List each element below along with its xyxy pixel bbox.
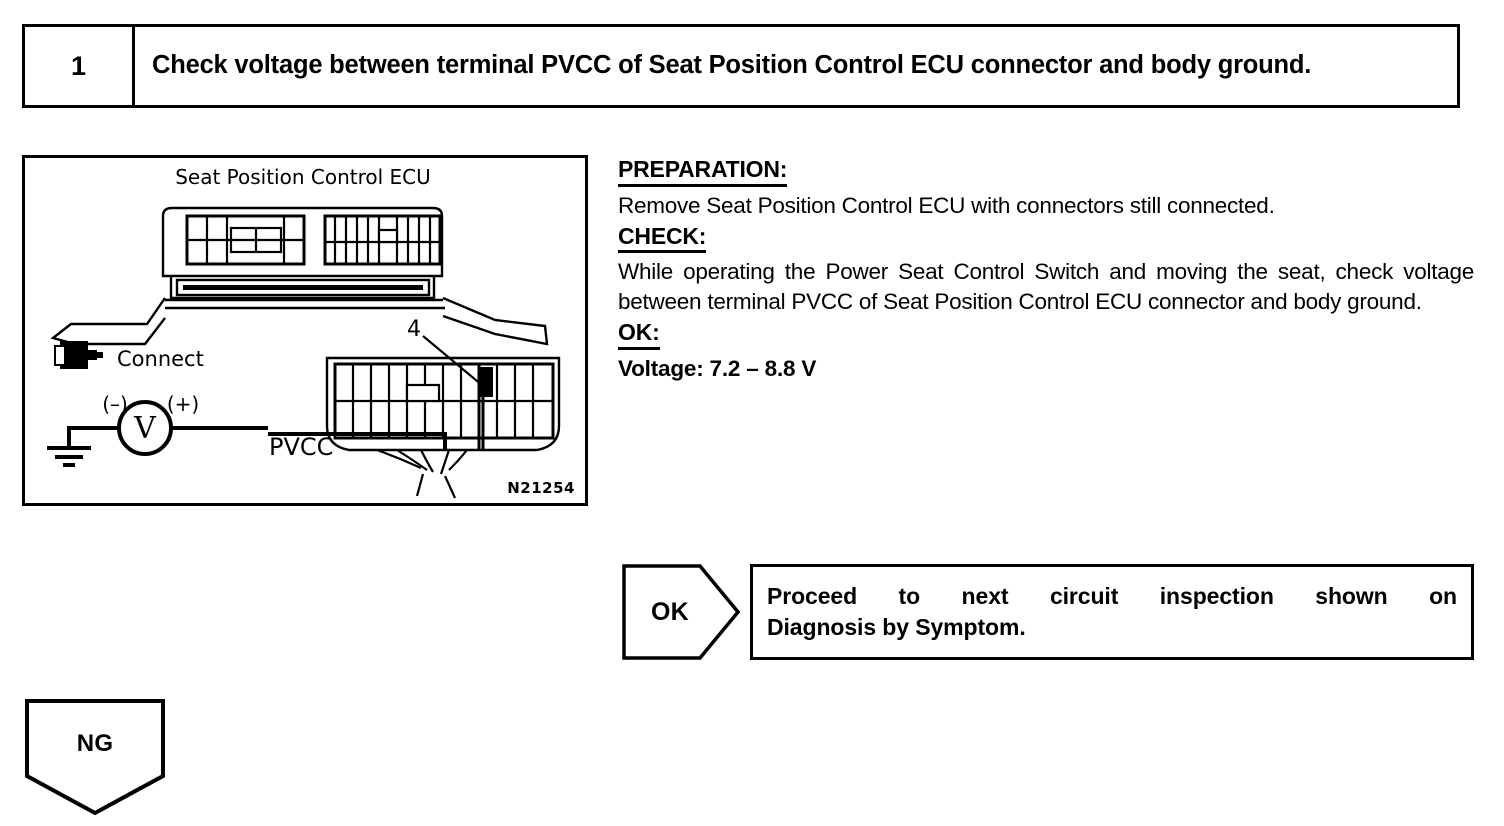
ok-result-row: OK Proceed to next circuit inspection sh… [622, 564, 1474, 660]
connect-label: Connect [117, 347, 204, 371]
ecu-left-connector-terminals [187, 216, 304, 264]
ok-heading-wrap: OK: [618, 320, 1474, 350]
terminal-4-marker [479, 367, 493, 397]
preparation-heading-wrap: PREPARATION: [618, 157, 1474, 187]
ok-heading: OK: [618, 320, 660, 350]
step-header-box: 1 Check voltage between terminal PVCC of… [22, 24, 1460, 108]
callout-number-4: 4 [407, 317, 421, 342]
wire-bundle [377, 450, 467, 498]
ok-spec-block: OK: Voltage: 7.2 – 8.8 V [618, 320, 1474, 383]
connect-plug-icon [55, 342, 103, 368]
check-text: While operating the Power Seat Control S… [618, 257, 1474, 317]
step-title-cell: Check voltage between terminal PVCC of S… [135, 27, 1457, 105]
ng-shape: NG [24, 698, 166, 816]
ok-result-box: Proceed to next circuit inspection shown… [750, 564, 1474, 660]
preparation-heading: PREPARATION: [618, 157, 787, 187]
ok-voltage-value: Voltage: 7.2 – 8.8 V [618, 354, 1474, 383]
check-block: CHECK: While operating the Power Seat Co… [618, 224, 1474, 318]
ecu-right-connector-terminals [325, 216, 440, 264]
ok-arrow-shape: OK [622, 564, 740, 660]
meter-minus-label: (–) [102, 392, 128, 416]
ecu-left-bracket [53, 298, 165, 344]
ecu-right-bracket [443, 298, 547, 344]
ok-result-line-2: Diagnosis by Symptom. [767, 612, 1457, 643]
instructions-column: PREPARATION: Remove Seat Position Contro… [618, 157, 1474, 383]
step-number: 1 [71, 51, 86, 82]
preparation-text: Remove Seat Position Control ECU with co… [618, 191, 1474, 221]
lower-connector-terminals [335, 364, 553, 438]
ok-result-line-1: Proceed to next circuit inspection shown… [767, 581, 1457, 612]
check-heading-wrap: CHECK: [618, 224, 1474, 254]
diagram-caption: Seat Position Control ECU [175, 165, 431, 189]
figure-id: N21254 [507, 479, 575, 497]
ok-result-label: OK [622, 564, 718, 660]
wiring-diagram: Seat Position Control ECU Connect V (–) … [25, 158, 585, 503]
service-manual-page: 1 Check voltage between terminal PVCC of… [0, 0, 1504, 826]
step-title: Check voltage between terminal PVCC of S… [152, 49, 1412, 82]
ng-result-label: NG [24, 698, 166, 790]
ground-symbol [47, 448, 91, 465]
pvcc-terminal-label: PVCC [269, 433, 333, 461]
ok-result-text: Proceed to next circuit inspection shown… [767, 581, 1457, 642]
callout-leader-line [423, 336, 483, 386]
diagram-panel: Seat Position Control ECU Connect V (–) … [22, 155, 588, 506]
check-heading: CHECK: [618, 224, 706, 254]
meter-plus-label: (+) [167, 392, 199, 416]
ground-lead-wire [69, 428, 119, 446]
preparation-block: PREPARATION: Remove Seat Position Contro… [618, 157, 1474, 221]
voltmeter-symbol: V [133, 411, 157, 446]
step-number-cell: 1 [25, 27, 135, 105]
